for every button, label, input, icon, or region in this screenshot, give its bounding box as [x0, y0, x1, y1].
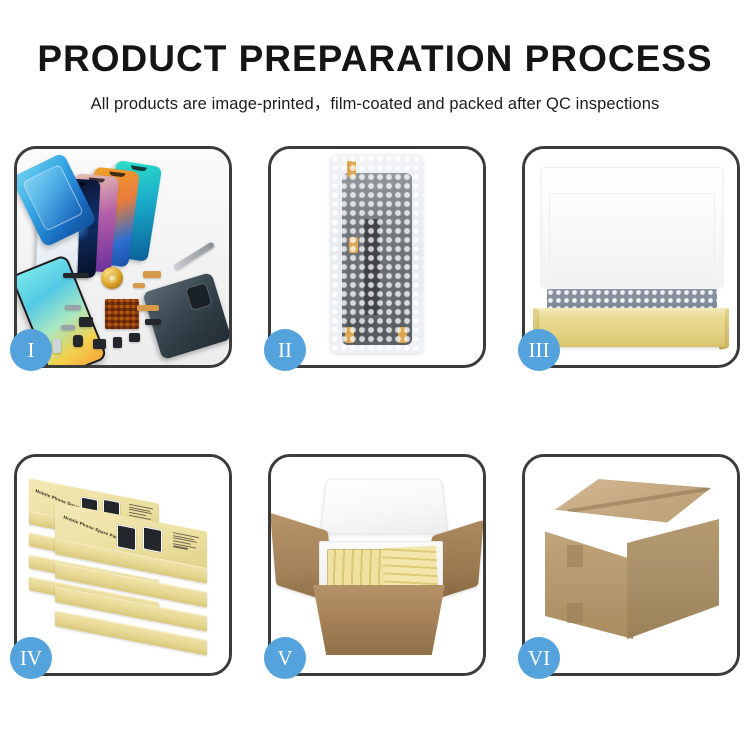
carton-body-icon — [313, 585, 445, 655]
process-step-panel-3: III — [522, 146, 740, 368]
phone-back-housing-icon — [142, 272, 229, 360]
styrofoam-lid-icon — [319, 479, 448, 535]
step-1-image — [17, 149, 229, 365]
step-badge-1: I — [10, 329, 52, 371]
connector-icon — [113, 337, 122, 348]
wireless-charging-coil-icon — [101, 267, 123, 289]
carton-left-face — [545, 511, 633, 639]
bubble-wrap-bag-icon — [331, 155, 423, 353]
camera-module-icon — [73, 335, 83, 347]
process-step-panel-2: II — [268, 146, 486, 368]
step-6-image — [525, 457, 737, 673]
copper-shield-grid-icon — [105, 299, 139, 329]
tweezers-icon — [173, 241, 215, 270]
carton-right-face — [627, 519, 719, 639]
vibration-motor-icon — [93, 339, 106, 349]
flex-cable-2-icon — [133, 283, 145, 288]
step-badge-2: II — [264, 329, 306, 371]
flex-cable-1-icon — [143, 271, 161, 278]
speaker-module-icon — [63, 273, 89, 278]
step-badge-6: VI — [518, 637, 560, 679]
sealed-carton-icon — [543, 479, 721, 647]
carton-tape-upper — [567, 545, 583, 567]
kraft-box-stack-icon: Mobile Phone Spare Parts Mob — [25, 473, 223, 663]
page-subtitle: All products are image-printed，film-coat… — [0, 90, 750, 114]
product-preparation-process-page: PRODUCT PREPARATION PROCESS All products… — [0, 0, 750, 750]
flex-cable-5-icon — [61, 325, 75, 330]
flex-cable-4-icon — [65, 305, 81, 310]
sim-tray-icon — [53, 339, 61, 353]
page-header: PRODUCT PREPARATION PROCESS All products… — [0, 0, 750, 114]
carton-tape-lower — [567, 603, 583, 623]
kraft-box-front-icon — [539, 315, 725, 347]
process-step-panel-1: I — [14, 146, 232, 368]
button-bracket-icon — [129, 333, 140, 342]
process-step-panel-5: V — [268, 454, 486, 676]
process-step-panel-4: Mobile Phone Spare Parts Mob — [14, 454, 232, 676]
step-3-image — [525, 149, 737, 365]
antenna-strip-icon — [145, 319, 161, 325]
step-4-image: Mobile Phone Spare Parts Mob — [17, 457, 229, 673]
step-2-image — [271, 149, 483, 365]
flex-cable-3-icon — [137, 305, 159, 311]
bubble-texture-overlay — [331, 155, 423, 353]
step-5-image — [271, 457, 483, 673]
step-badge-4: IV — [10, 637, 52, 679]
page-title: PRODUCT PREPARATION PROCESS — [0, 40, 750, 77]
small-chip-icon — [79, 317, 93, 327]
step-badge-3: III — [518, 329, 560, 371]
foam-sheet-icon — [549, 193, 715, 273]
box-label-front: Mobile Phone Spare Parts — [63, 514, 122, 541]
step-badge-5: V — [264, 637, 306, 679]
packed-yellow-boxes-secondary-icon — [382, 546, 438, 589]
process-step-panel-6: VI — [522, 454, 740, 676]
process-steps-grid: I II — [14, 146, 740, 676]
